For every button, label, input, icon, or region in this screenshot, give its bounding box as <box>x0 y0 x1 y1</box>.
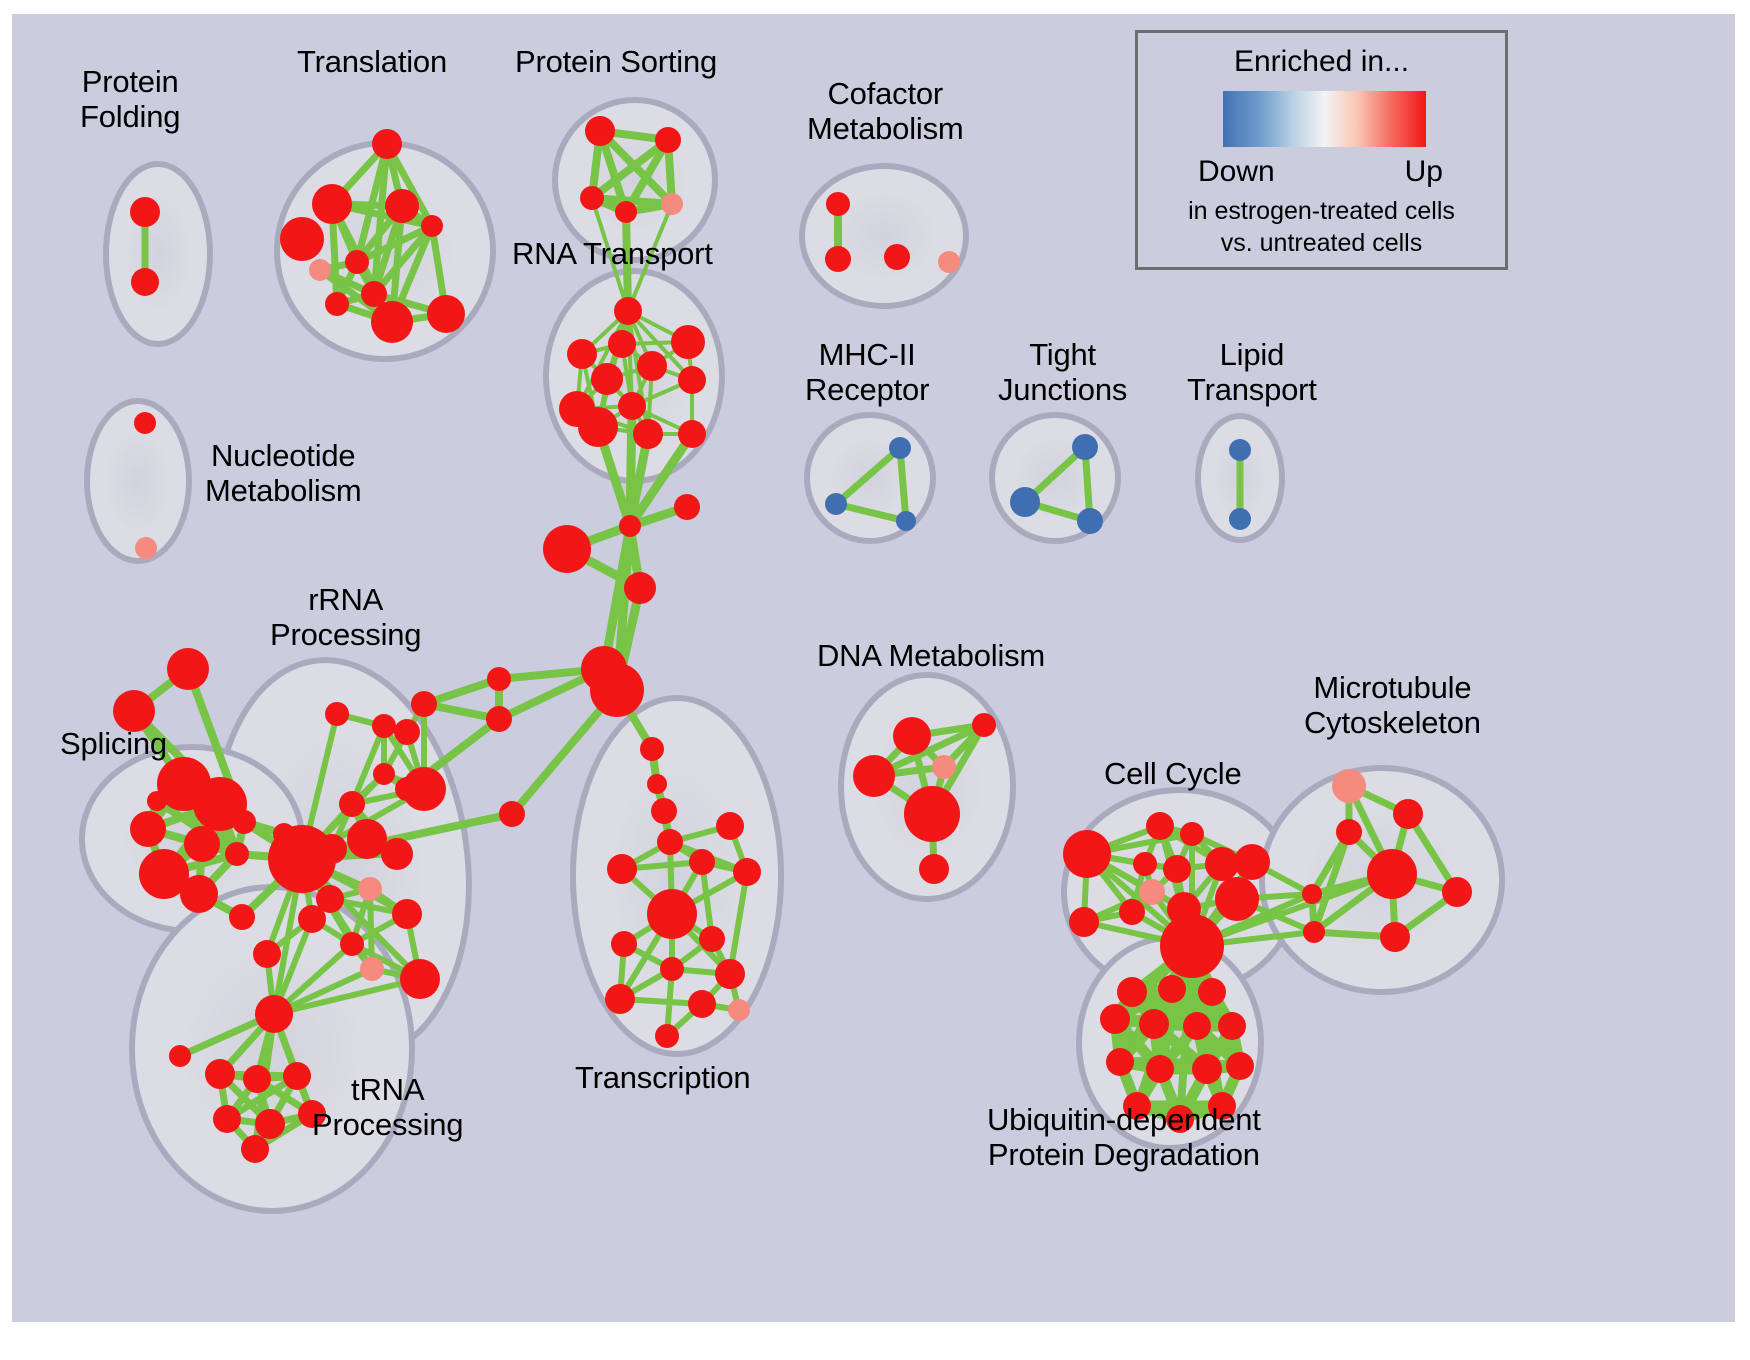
node <box>312 184 352 224</box>
node <box>1192 1054 1222 1084</box>
node <box>1072 434 1098 460</box>
cluster-label-microtubule-cytoskeleton: Microtubule Cytoskeleton <box>1304 670 1481 740</box>
node <box>317 834 347 864</box>
cluster-label-cell-cycle: Cell Cycle <box>1104 756 1242 791</box>
node <box>619 515 641 537</box>
node <box>889 437 911 459</box>
node <box>411 691 437 717</box>
node <box>1205 847 1239 881</box>
node <box>1146 812 1174 840</box>
cluster-label-tight-junctions: Tight Junctions <box>998 337 1127 407</box>
node <box>728 999 750 1021</box>
node <box>678 366 706 394</box>
node <box>660 957 684 981</box>
node <box>345 250 369 274</box>
legend-low-label: Down <box>1198 155 1275 189</box>
node <box>578 407 618 447</box>
node <box>255 1109 285 1139</box>
node <box>130 811 166 847</box>
node <box>655 127 681 153</box>
node <box>400 959 440 999</box>
legend-panel: Enriched in... Down Up in estrogen-treat… <box>1135 30 1508 270</box>
node <box>392 899 422 929</box>
node <box>184 826 220 862</box>
cluster-label-nucleotide-metabolism: Nucleotide Metabolism <box>205 438 362 508</box>
node <box>1133 852 1157 876</box>
node <box>1180 822 1204 846</box>
cluster-label-mhc-ii-receptor: MHC-II Receptor <box>805 337 929 407</box>
node <box>241 1135 269 1163</box>
node <box>1117 977 1147 1007</box>
cluster-label-rna-transport: RNA Transport <box>512 236 713 271</box>
node <box>1229 508 1251 530</box>
node <box>360 957 384 981</box>
node <box>671 325 705 359</box>
node <box>932 755 956 779</box>
node <box>225 842 249 866</box>
node <box>325 292 349 316</box>
node <box>229 904 255 930</box>
node <box>633 419 663 449</box>
node <box>339 791 365 817</box>
node <box>689 849 715 875</box>
node <box>825 246 851 272</box>
node <box>373 763 395 785</box>
node <box>1010 487 1040 517</box>
node <box>678 420 706 448</box>
node <box>938 251 960 273</box>
cluster-label-ubiquitin-degradation: Ubiquitin-dependent Protein Degradation <box>987 1102 1261 1172</box>
node <box>180 875 218 913</box>
cluster-label-cofactor-metabolism: Cofactor Metabolism <box>807 76 964 146</box>
node <box>1336 819 1362 845</box>
node <box>1146 1055 1174 1083</box>
blob-protein-folding <box>106 164 210 344</box>
node <box>1302 884 1322 904</box>
node <box>298 905 326 933</box>
node <box>657 829 683 855</box>
node <box>605 984 635 1014</box>
node <box>893 717 931 755</box>
node <box>1139 1009 1169 1039</box>
node <box>651 798 677 824</box>
node <box>884 244 910 270</box>
node <box>1226 1052 1254 1080</box>
node <box>716 812 744 840</box>
node <box>167 648 209 690</box>
node <box>1198 978 1226 1006</box>
node <box>590 663 644 717</box>
node <box>130 197 160 227</box>
node <box>381 838 413 870</box>
node <box>147 791 167 811</box>
node <box>1160 914 1224 978</box>
node <box>637 351 667 381</box>
node <box>1442 877 1472 907</box>
node <box>699 926 725 952</box>
node <box>134 412 156 434</box>
blob-cofactor-metabolism <box>802 166 966 306</box>
cluster-label-transcription: Transcription <box>575 1060 750 1095</box>
node <box>1303 921 1325 943</box>
node <box>624 572 656 604</box>
node <box>567 339 597 369</box>
node <box>427 295 465 333</box>
node <box>1215 877 1259 921</box>
node <box>1163 855 1191 883</box>
node <box>688 990 716 1018</box>
node <box>611 931 637 957</box>
node <box>309 259 331 281</box>
node <box>421 215 443 237</box>
cluster-label-lipid-transport: Lipid Transport <box>1187 337 1317 407</box>
node <box>1234 844 1270 880</box>
legend-title: Enriched in... <box>1138 45 1505 79</box>
node <box>647 889 697 939</box>
node <box>255 995 293 1033</box>
cluster-label-dna-metabolism: DNA Metabolism <box>817 638 1045 673</box>
node <box>640 737 664 761</box>
node <box>904 786 960 842</box>
node <box>825 493 847 515</box>
cluster-label-trna-processing: tRNA Processing <box>312 1072 463 1142</box>
node <box>280 217 324 261</box>
cluster-label-rrna-processing: rRNA Processing <box>270 582 421 652</box>
node <box>1183 1012 1211 1040</box>
node <box>1100 1004 1130 1034</box>
node <box>733 858 761 886</box>
legend-caption-line1: in estrogen-treated cells <box>1138 197 1505 226</box>
node <box>896 511 916 531</box>
node <box>253 940 281 968</box>
node <box>394 719 420 745</box>
node <box>1069 907 1099 937</box>
node <box>972 713 996 737</box>
node <box>205 1059 235 1089</box>
node <box>615 201 637 223</box>
node <box>243 1065 271 1093</box>
node <box>385 189 419 223</box>
node <box>655 1024 679 1048</box>
node <box>395 777 419 801</box>
node <box>487 667 511 691</box>
node <box>358 877 382 901</box>
node <box>1229 439 1251 461</box>
node <box>499 801 525 827</box>
figure-root: Protein Folding Translation Protein Sort… <box>0 0 1750 1360</box>
node <box>1077 508 1103 534</box>
node <box>1380 922 1410 952</box>
node <box>372 129 402 159</box>
edge <box>1120 1062 1240 1066</box>
legend-gradient-bar <box>1223 91 1426 147</box>
legend-caption-line2: vs. untreated cells <box>1138 229 1505 258</box>
node <box>1106 1048 1134 1076</box>
legend-high-label: Up <box>1405 155 1443 189</box>
node <box>614 297 642 325</box>
node <box>608 330 636 358</box>
node <box>591 363 623 395</box>
cluster-label-protein-folding: Protein Folding <box>80 64 180 134</box>
node <box>325 702 349 726</box>
node <box>1139 879 1165 905</box>
network-canvas: Protein Folding Translation Protein Sort… <box>12 14 1735 1322</box>
node <box>232 810 256 834</box>
node <box>715 959 745 989</box>
cluster-label-splicing: Splicing <box>60 726 167 761</box>
node <box>283 1062 311 1090</box>
node <box>340 932 364 956</box>
node <box>371 301 413 343</box>
node <box>1367 849 1417 899</box>
node <box>213 1105 241 1133</box>
node <box>674 494 700 520</box>
node <box>607 854 637 884</box>
node <box>1332 769 1366 803</box>
node <box>543 525 591 573</box>
node <box>135 537 157 559</box>
node <box>169 1045 191 1067</box>
cluster-label-translation: Translation <box>297 44 447 79</box>
node <box>618 392 646 420</box>
node <box>661 193 683 215</box>
node <box>1393 799 1423 829</box>
node <box>1158 975 1186 1003</box>
node <box>131 268 159 296</box>
node <box>580 186 604 210</box>
node <box>1218 1012 1246 1040</box>
cluster-label-protein-sorting: Protein Sorting <box>515 44 717 79</box>
node <box>826 192 850 216</box>
node <box>347 819 387 859</box>
node <box>919 854 949 884</box>
node <box>486 706 512 732</box>
node <box>853 755 895 797</box>
node <box>647 774 667 794</box>
node <box>585 116 615 146</box>
node <box>372 714 396 738</box>
node <box>1119 899 1145 925</box>
node <box>1063 830 1111 878</box>
